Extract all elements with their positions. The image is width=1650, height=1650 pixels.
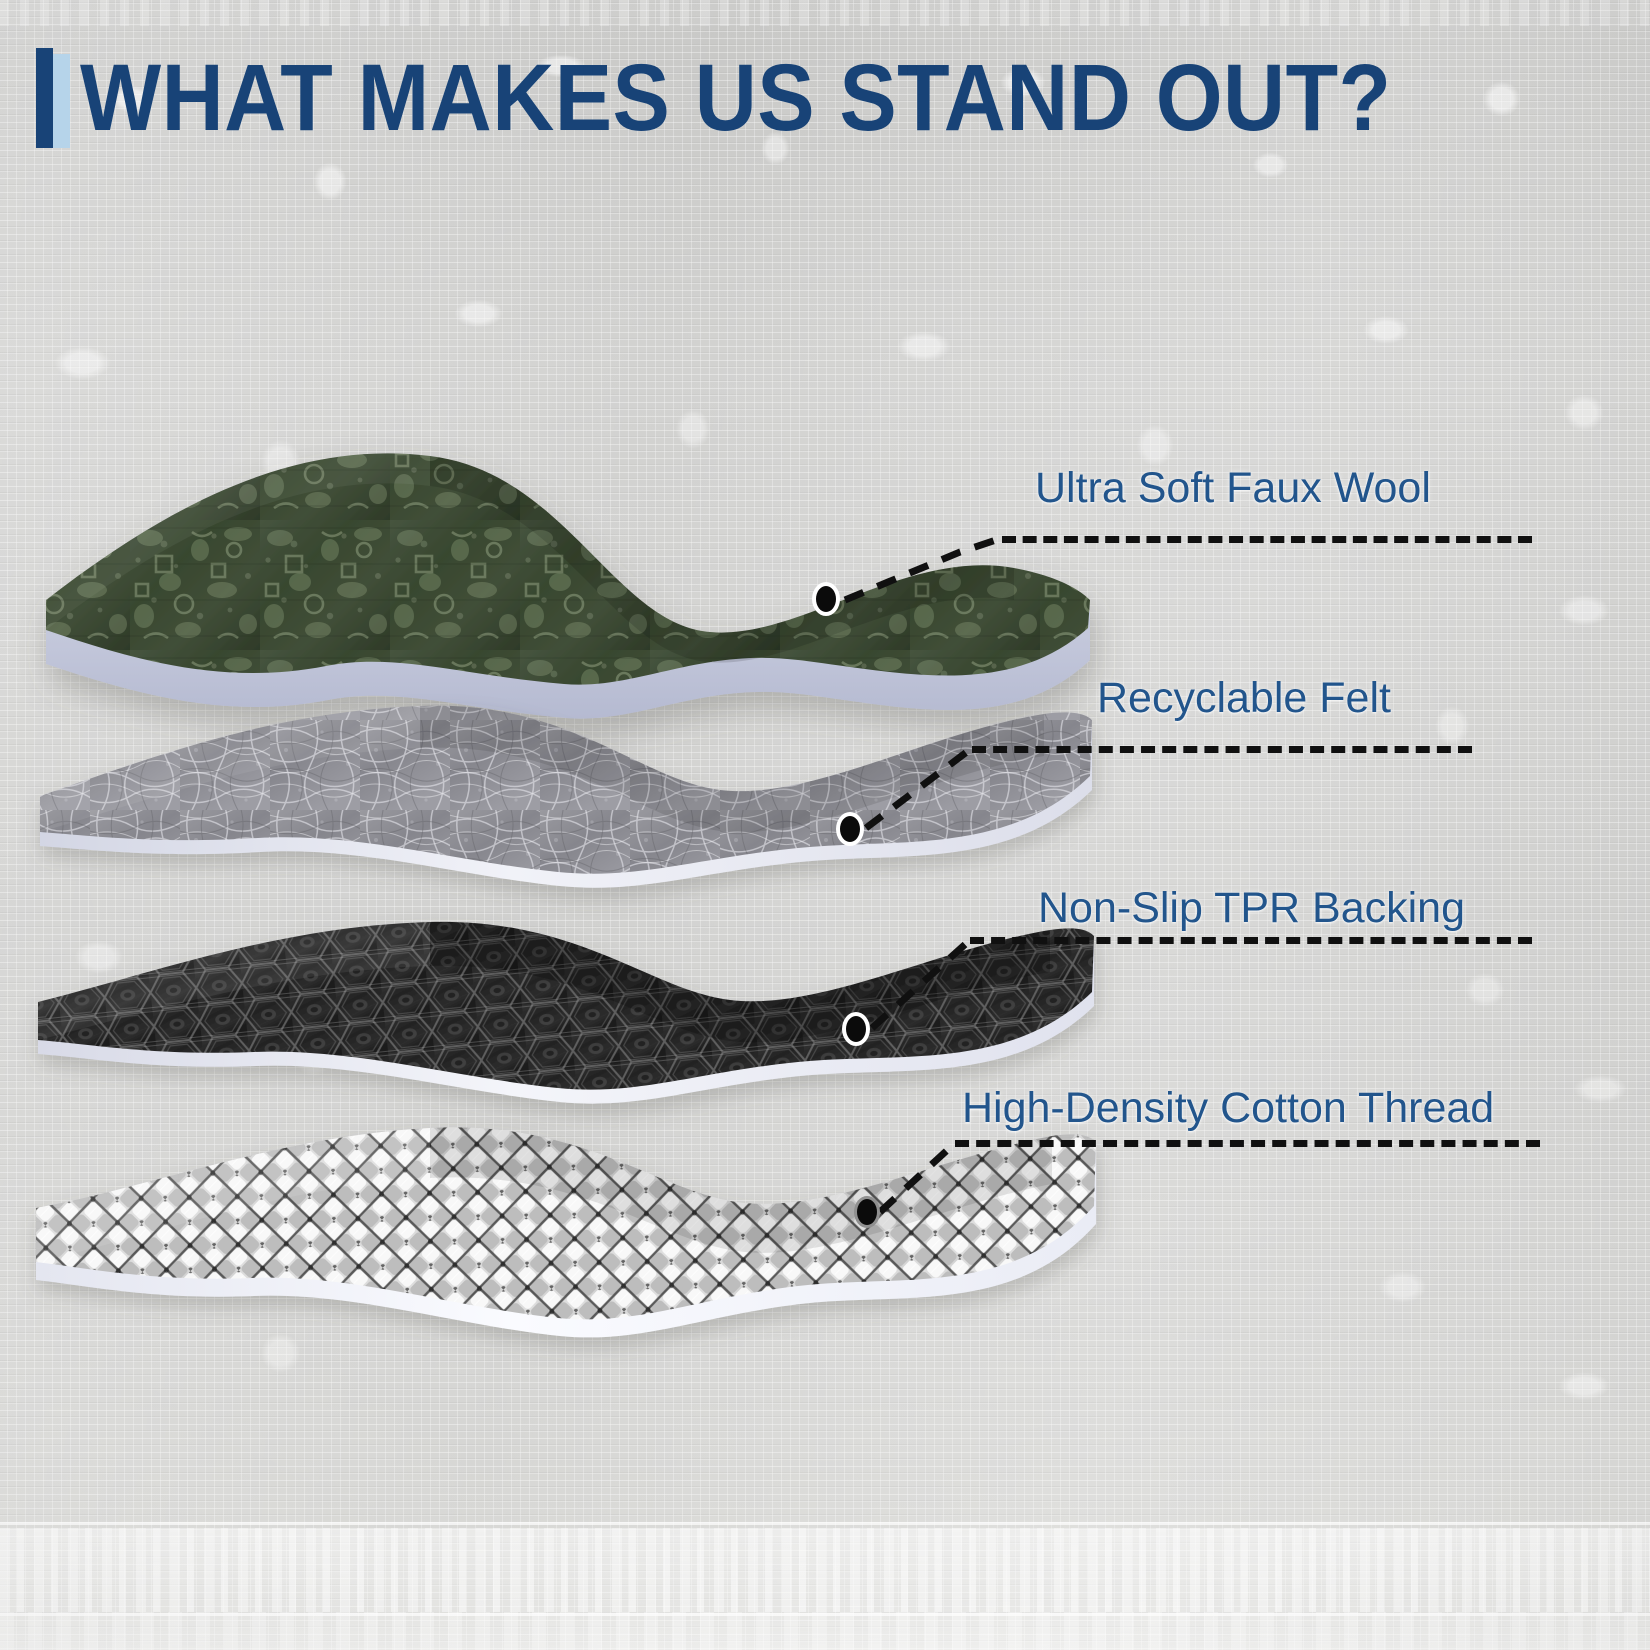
- pointer-dot-icon-4: [854, 1196, 880, 1228]
- callout-leader-4: [0, 0, 1650, 1650]
- infographic-canvas: WHAT MAKES US STAND OUT?: [0, 0, 1650, 1650]
